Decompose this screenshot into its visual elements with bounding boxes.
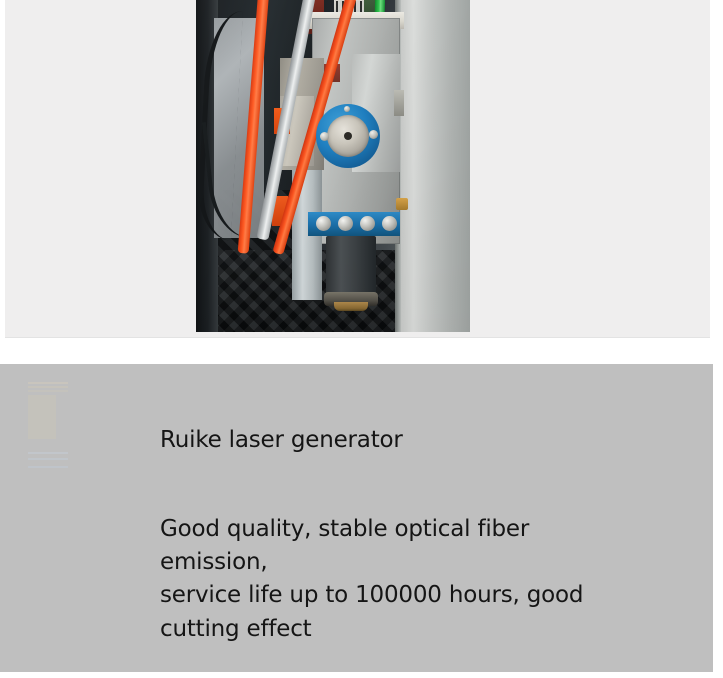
- collimator-aperture: [344, 132, 352, 140]
- slide-canvas: Ruike laser generator Good quality, stab…: [0, 0, 723, 678]
- scan-artifact-streaks: [28, 380, 68, 478]
- artifact-streak: [28, 386, 68, 388]
- clamp-bolt-3: [360, 216, 375, 231]
- artifact-streak: [28, 458, 68, 460]
- side-fitting: [394, 90, 404, 116]
- artifact-streak: [28, 452, 68, 454]
- laser-cutting-head-photo: [196, 0, 470, 332]
- description-panel: Ruike laser generator Good quality, stab…: [0, 364, 713, 672]
- brass-air-fitting: [396, 198, 408, 210]
- artifact-streak: [28, 390, 68, 392]
- clamp-bolt-1: [316, 216, 331, 231]
- product-description: Good quality, stable optical fiber emiss…: [160, 513, 600, 646]
- clamp-bolt-4: [382, 216, 397, 231]
- nozzle-barrel: [326, 236, 376, 298]
- ring-bolt-right: [369, 130, 378, 139]
- product-headline: Ruike laser generator: [160, 426, 690, 455]
- image-band: [5, 0, 710, 338]
- ring-bolt-top: [344, 106, 350, 112]
- clamp-bolt-2: [338, 216, 353, 231]
- artifact-streak: [28, 466, 68, 468]
- ring-bolt-left: [320, 132, 329, 141]
- nozzle-tip: [334, 302, 368, 311]
- description-text-block: Ruike laser generator Good quality, stab…: [160, 426, 690, 646]
- machine-column-right: [401, 0, 470, 332]
- artifact-streak: [28, 395, 56, 439]
- artifact-streak: [28, 382, 68, 384]
